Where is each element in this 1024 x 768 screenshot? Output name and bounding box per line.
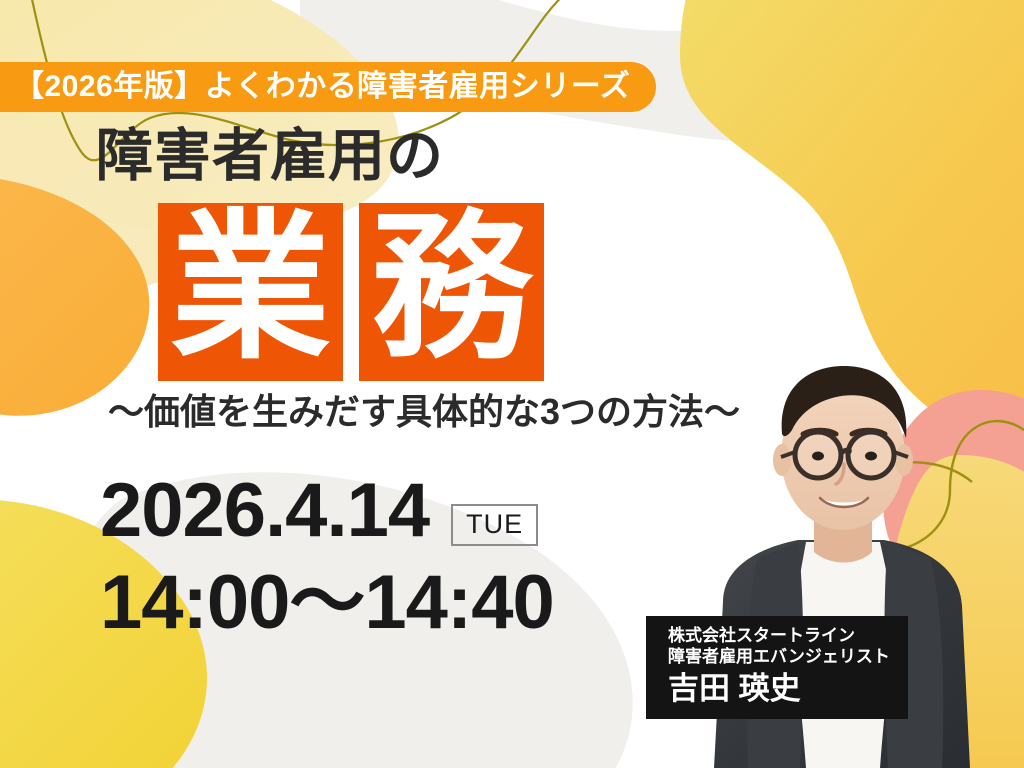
- time-row: 14:00〜14:40: [100, 560, 554, 646]
- speaker-ear-right: [895, 444, 913, 476]
- speaker-name: 吉田 瑛史: [668, 670, 898, 707]
- emphasis-kanji-box-2: 務: [359, 203, 544, 381]
- event-date: 2026.4.14: [100, 473, 429, 549]
- day-of-week-box: TUE: [451, 504, 538, 546]
- blob-orange-midleft: [0, 175, 149, 416]
- speaker-company: 株式会社スタートライン: [668, 625, 898, 646]
- speaker-eye-right: [865, 452, 877, 461]
- speaker-ear-left: [773, 444, 791, 476]
- page-title: 障害者雇用の: [96, 128, 444, 185]
- emphasis-kanji-char-2: 務: [371, 208, 531, 368]
- schedule-block: 2026.4.14 TUE 14:00〜14:40: [100, 468, 554, 646]
- speaker-nameplate: 株式会社スタートライン 障害者雇用エバンジェリスト 吉田 瑛史: [646, 616, 908, 719]
- emphasis-kanji-char-1: 業: [170, 208, 330, 368]
- speaker-eye-left: [812, 452, 824, 461]
- emphasis-kanji-box-1: 業: [158, 203, 343, 381]
- day-of-week-label: TUE: [466, 511, 523, 538]
- subtitle: 〜価値を生みだす具体的な3つの方法〜: [108, 394, 740, 430]
- speaker-role: 障害者雇用エバンジェリスト: [668, 646, 898, 667]
- date-row: 2026.4.14 TUE: [100, 468, 554, 554]
- emphasis-kanji-row: 業 務: [158, 203, 544, 381]
- series-badge: 【2026年版】よくわかる障害者雇用シリーズ: [0, 62, 656, 112]
- event-time: 14:00〜14:40: [100, 565, 554, 641]
- series-badge-label: 【2026年版】よくわかる障害者雇用シリーズ: [14, 72, 630, 102]
- webinar-banner: 【2026年版】よくわかる障害者雇用シリーズ 障害者雇用の 業 務 〜価値を生み…: [0, 0, 1024, 768]
